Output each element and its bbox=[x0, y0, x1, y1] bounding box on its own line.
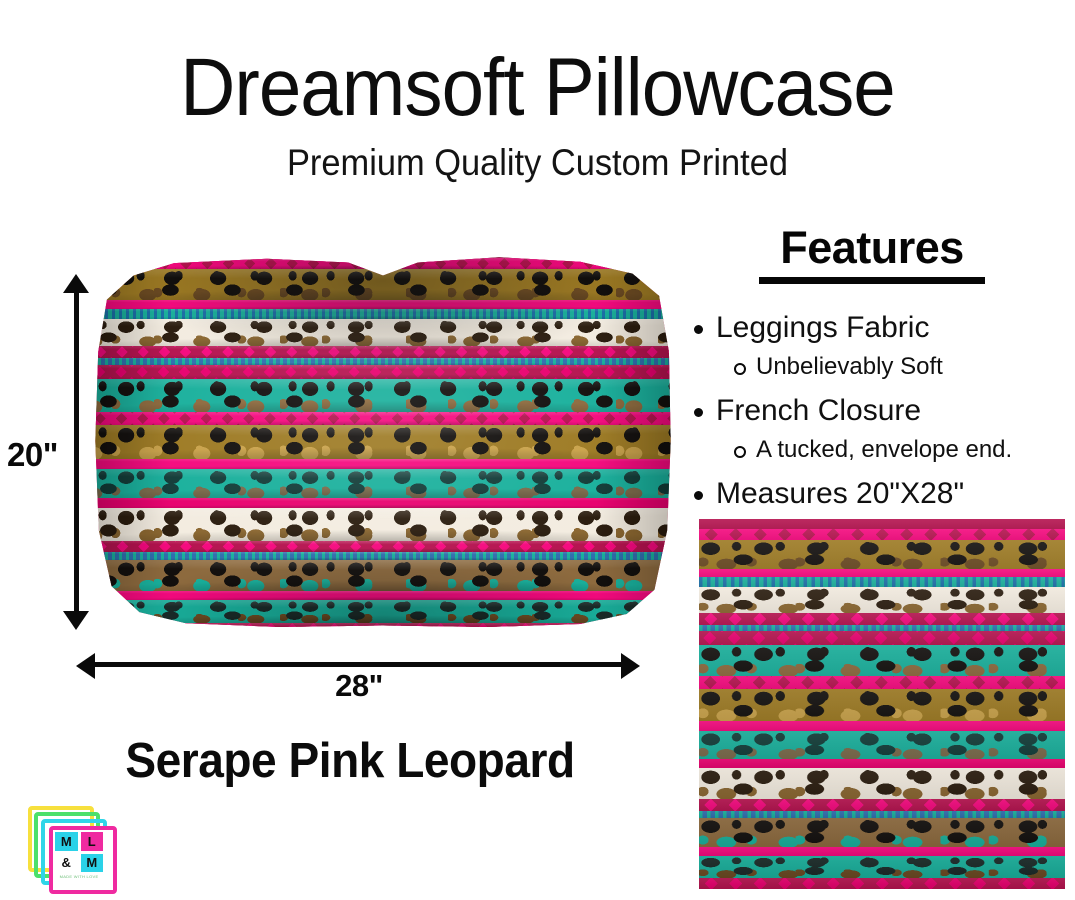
product-listing-page: Dreamsoft Pillowcase Premium Quality Cus… bbox=[0, 0, 1075, 900]
bullet-circle-icon bbox=[734, 446, 746, 458]
band-sheen bbox=[699, 768, 1065, 800]
feature-sublabel: Unbelievably Soft bbox=[756, 353, 943, 380]
feature-subitem: A tucked, envelope end. bbox=[716, 432, 1072, 468]
height-dimension-arrow bbox=[60, 276, 90, 628]
fabric-band-leopard bbox=[699, 689, 1065, 722]
logo-letter-amp: & bbox=[55, 854, 78, 873]
fabric-band-solid bbox=[93, 459, 673, 469]
height-dimension-label: 20" bbox=[7, 436, 58, 474]
feature-sublist: A tucked, envelope end. bbox=[716, 432, 1072, 468]
feature-label: Leggings Fabric bbox=[716, 311, 929, 344]
band-sheen bbox=[93, 358, 673, 365]
band-sheen bbox=[93, 379, 673, 412]
fabric-band-stripe bbox=[699, 577, 1065, 587]
band-sheen bbox=[699, 878, 1065, 888]
fabric-band-zigzag bbox=[699, 529, 1065, 540]
feature-label: French Closure bbox=[716, 394, 921, 427]
fabric-band-solid bbox=[699, 721, 1065, 731]
logo-letter-m2: M bbox=[81, 854, 104, 873]
fabric-band-leopard bbox=[93, 560, 673, 591]
fabric-band-stripe bbox=[699, 811, 1065, 818]
product-name: Serape Pink Leopard bbox=[21, 733, 679, 789]
bullet-disc-icon bbox=[694, 491, 703, 500]
feature-sublabel: A tucked, envelope end. bbox=[756, 436, 1012, 463]
pillow-product-image bbox=[93, 255, 673, 627]
band-sheen bbox=[699, 731, 1065, 759]
fabric-band-leopard bbox=[699, 587, 1065, 613]
page-subtitle: Premium Quality Custom Printed bbox=[38, 140, 1038, 186]
fabric-band-solid bbox=[699, 519, 1065, 529]
band-sheen bbox=[93, 258, 673, 270]
band-sheen bbox=[93, 255, 673, 258]
swatch-fabric-pattern bbox=[699, 519, 1065, 889]
band-sheen bbox=[699, 818, 1065, 848]
band-sheen bbox=[93, 269, 673, 300]
fabric-band-leopard bbox=[699, 540, 1065, 570]
fabric-band-leopard bbox=[699, 856, 1065, 879]
band-sheen bbox=[93, 508, 673, 541]
band-sheen bbox=[699, 676, 1065, 689]
band-sheen bbox=[93, 560, 673, 591]
fabric-band-leopard bbox=[93, 379, 673, 412]
fabric-band-solid bbox=[93, 591, 673, 600]
band-sheen bbox=[93, 412, 673, 425]
band-sheen bbox=[699, 519, 1065, 529]
fabric-band-zigzag bbox=[699, 799, 1065, 810]
fabric-band-stripe bbox=[93, 552, 673, 560]
fabric-band-solid bbox=[699, 847, 1065, 855]
arrow-shaft-horizontal bbox=[88, 662, 628, 667]
band-sheen bbox=[699, 587, 1065, 613]
pillow-body bbox=[93, 255, 673, 627]
band-sheen bbox=[93, 309, 673, 319]
band-sheen bbox=[93, 552, 673, 560]
band-sheen bbox=[93, 623, 673, 627]
band-sheen bbox=[699, 811, 1065, 818]
band-sheen bbox=[699, 847, 1065, 855]
band-sheen bbox=[699, 721, 1065, 731]
pillow-fabric-pattern bbox=[93, 255, 673, 627]
feature-label: Measures 20"X28" bbox=[716, 477, 964, 510]
band-sheen bbox=[93, 459, 673, 469]
feature-item: Measures 20"X28" bbox=[672, 472, 1072, 515]
brand-logo: M L & M MADE WITH LOVE bbox=[28, 806, 124, 894]
fabric-band-zigzag bbox=[93, 346, 673, 358]
fabric-band-leopard bbox=[93, 425, 673, 459]
features-list: Leggings FabricUnbelievably SoftFrench C… bbox=[672, 306, 1072, 515]
logo-tagline: MADE WITH LOVE bbox=[55, 874, 103, 879]
fabric-band-leopard bbox=[699, 768, 1065, 800]
fabric-band-zigzag bbox=[93, 541, 673, 553]
page-title: Dreamsoft Pillowcase bbox=[38, 42, 1038, 134]
fabric-band-zigzag bbox=[93, 258, 673, 270]
feature-item: Leggings FabricUnbelievably Soft bbox=[672, 306, 1072, 385]
fabric-band-solid bbox=[699, 569, 1065, 577]
fabric-band-solid bbox=[699, 759, 1065, 768]
bullet-disc-icon bbox=[694, 408, 703, 417]
fabric-band-leopard bbox=[93, 508, 673, 541]
fabric-band-zigzag bbox=[699, 878, 1065, 888]
fabric-band-zigzag bbox=[93, 365, 673, 379]
bullet-circle-icon bbox=[734, 363, 746, 375]
band-sheen bbox=[699, 799, 1065, 810]
band-sheen bbox=[699, 540, 1065, 570]
width-dimension-label: 28" bbox=[0, 668, 718, 704]
band-sheen bbox=[699, 569, 1065, 577]
band-sheen bbox=[699, 759, 1065, 768]
band-sheen bbox=[93, 346, 673, 358]
band-sheen bbox=[699, 529, 1065, 540]
fabric-band-zigzag bbox=[93, 412, 673, 425]
feature-subitem: Unbelievably Soft bbox=[716, 349, 1072, 385]
band-sheen bbox=[93, 425, 673, 459]
band-sheen bbox=[699, 577, 1065, 587]
fabric-band-solid bbox=[93, 300, 673, 309]
features-heading: Features bbox=[672, 222, 1072, 276]
fabric-band-leopard bbox=[93, 319, 673, 346]
fabric-band-zigzag bbox=[699, 613, 1065, 625]
feature-sublist: Unbelievably Soft bbox=[716, 349, 1072, 385]
fabric-band-zigzag bbox=[699, 676, 1065, 689]
fabric-band-leopard bbox=[93, 600, 673, 624]
fabric-band-solid bbox=[93, 498, 673, 507]
band-sheen bbox=[699, 645, 1065, 676]
band-sheen bbox=[93, 591, 673, 600]
band-sheen bbox=[93, 541, 673, 553]
fabric-band-zigzag bbox=[93, 623, 673, 627]
features-section: Features Leggings FabricUnbelievably Sof… bbox=[672, 222, 1072, 519]
band-sheen bbox=[93, 469, 673, 498]
fabric-swatch-image bbox=[699, 519, 1065, 889]
band-sheen bbox=[699, 625, 1065, 632]
band-sheen bbox=[93, 498, 673, 507]
fabric-band-stripe bbox=[699, 625, 1065, 632]
fabric-band-leopard bbox=[93, 269, 673, 300]
fabric-band-leopard bbox=[699, 645, 1065, 676]
fabric-band-zigzag bbox=[699, 631, 1065, 644]
band-sheen bbox=[699, 856, 1065, 879]
fabric-band-solid bbox=[93, 255, 673, 258]
logo-letter-m1: M bbox=[55, 832, 78, 851]
band-sheen bbox=[93, 600, 673, 624]
fabric-band-stripe bbox=[93, 358, 673, 365]
band-sheen bbox=[699, 689, 1065, 722]
band-sheen bbox=[699, 613, 1065, 625]
band-sheen bbox=[93, 300, 673, 309]
band-sheen bbox=[93, 319, 673, 346]
logo-letter-grid: M L & M bbox=[55, 832, 103, 872]
feature-item: French ClosureA tucked, envelope end. bbox=[672, 389, 1072, 468]
fabric-band-stripe bbox=[93, 309, 673, 319]
logo-letter-l: L bbox=[81, 832, 104, 851]
arrowhead-down-icon bbox=[63, 611, 89, 630]
fabric-band-leopard bbox=[699, 818, 1065, 848]
arrow-shaft-vertical bbox=[74, 286, 79, 618]
features-heading-underline bbox=[759, 277, 985, 284]
bullet-disc-icon bbox=[694, 325, 703, 334]
fabric-band-leopard bbox=[699, 731, 1065, 759]
arrowhead-up-icon bbox=[63, 274, 89, 293]
band-sheen bbox=[699, 631, 1065, 644]
band-sheen bbox=[93, 365, 673, 379]
fabric-band-leopard bbox=[93, 469, 673, 498]
